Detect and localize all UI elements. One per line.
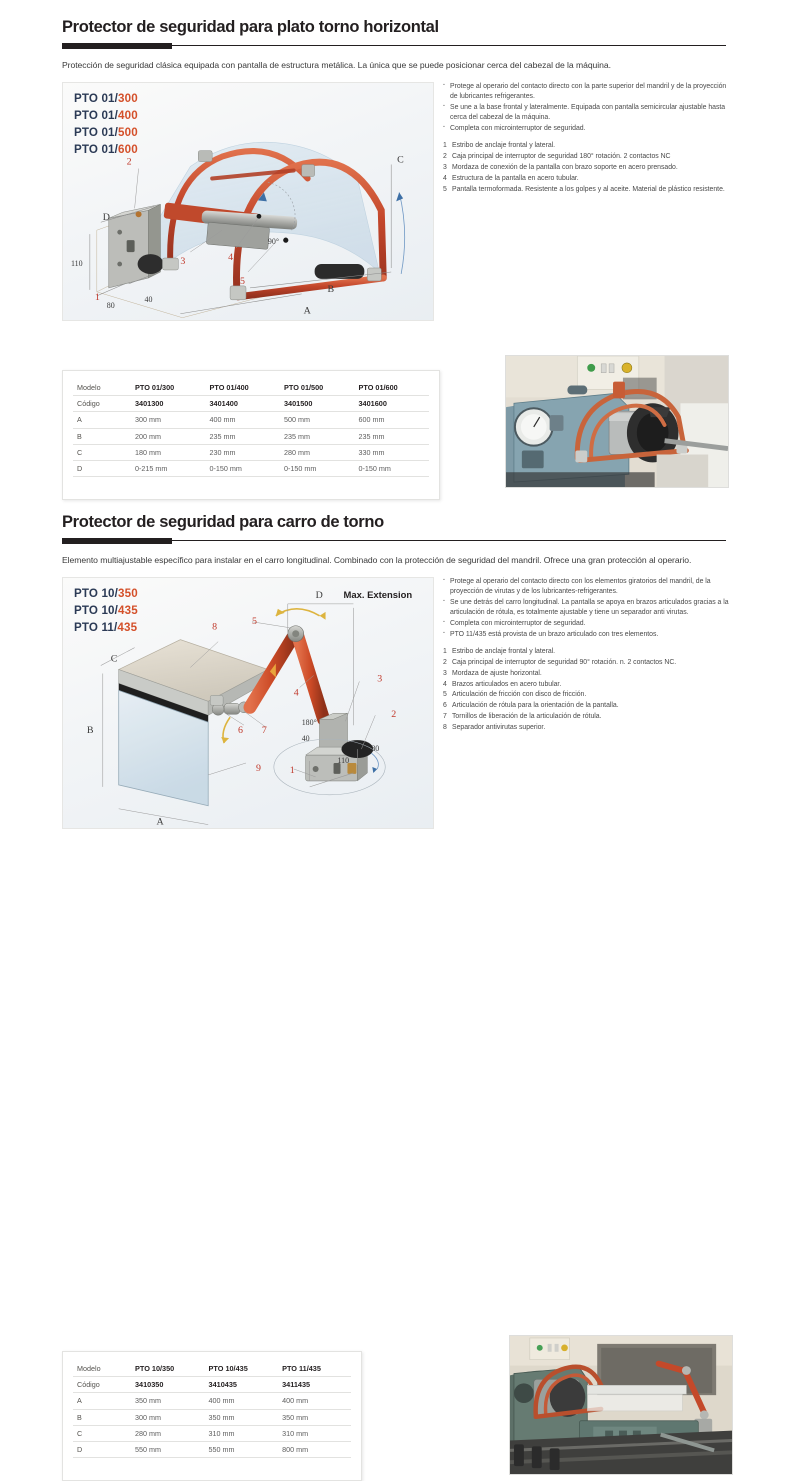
feature-bullet-list: Protege al operario del contacto directo… [443,82,735,134]
value-cell: 300 mm [131,412,206,428]
model-cell: PTO 01/600 [355,380,430,396]
row-label: A [73,412,131,428]
carriage-guard-drawing: B A C D Max. Extension 180° 40 110 80 8 … [63,578,433,829]
table-row: D 0-215 mm 0-150 mm 0-150 mm 0-150 mm [73,460,429,476]
code-cell: 3401300 [131,396,206,412]
model-cell: PTO 01/500 [280,380,355,396]
part-legend-item: Caja principal de interruptor de segurid… [443,152,735,162]
dimension-value-80: 80 [107,301,115,310]
feature-bullet-list: Protege al operario del contacto directo… [443,577,735,640]
code-cell: 3401500 [280,396,355,412]
dimension-label-C: C [111,654,118,665]
row-label: Código [73,396,131,412]
spec-table: Modelo PTO 10/350 PTO 10/435 PTO 11/435 … [73,1361,351,1458]
dimension-value-40: 40 [145,295,153,304]
articulated-arm-upper [298,636,324,720]
page-title: Protector de seguridad para carro de tor… [62,513,726,538]
callout-2: 2 [127,157,132,168]
row-label: B [73,1409,131,1425]
value-cell: 550 mm [205,1441,279,1457]
row-label: Modelo [73,1361,131,1377]
chuck-guard-drawing: A B C D 110 80 40 90° 2 3 4 5 1 [63,83,433,321]
part-legend-item: Estructura de la pantalla en acero tubul… [443,174,735,184]
callout-9: 9 [256,763,261,774]
title-rule-thick [62,43,172,49]
code-cell: 3410435 [205,1377,279,1393]
code-cell: 3410350 [131,1377,205,1393]
feature-bullet: Completa con microinterruptor de segurid… [443,124,735,134]
screen-handle [315,264,365,279]
feature-bullet: Se une detrás del carro longitudinal. La… [443,598,735,619]
value-cell: 0-150 mm [280,460,355,476]
callout-3: 3 [377,674,382,685]
dimension-label-D: D [316,590,323,601]
tubular-crossbar [238,278,383,297]
title-rule [62,538,726,545]
feature-notes-carriage: Protege al operario del contacto directo… [443,577,735,733]
code-cell: 3401400 [206,396,281,412]
row-label: A [73,1393,131,1409]
model-cell: PTO 01/300 [131,380,206,396]
dimension-label-A: A [156,817,164,828]
lathe-photo-illustration [506,356,728,487]
table-row: A 350 mm 400 mm 400 mm [73,1393,351,1409]
value-cell: 235 mm [206,428,281,444]
value-cell: 230 mm [206,444,281,460]
table-row: A 300 mm 400 mm 500 mm 600 mm [73,412,429,428]
dimension-label-B: B [328,284,335,295]
value-cell: 500 mm [280,412,355,428]
section-intro: Protección de seguridad clásica equipada… [62,59,732,72]
section-body: PTO 10/350 PTO 10/435 PTO 11/435 [0,577,788,837]
part-legend-item: Articulación de rótula para la orientaci… [443,701,735,711]
callout-2: 2 [391,709,396,720]
feature-bullet: Protege al operario del contacto directo… [443,577,735,598]
spec-table: Modelo PTO 01/300 PTO 01/400 PTO 01/500 … [73,380,429,477]
value-cell: 310 mm [205,1425,279,1441]
part-legend-item: Estribo de anclaje frontal y lateral. [443,647,735,657]
model-cell: PTO 01/400 [206,380,281,396]
part-legend-item: Mordaza de ajuste horizontal. [443,669,735,679]
section-carriage-guard: Protector de seguridad para carro de tor… [0,513,788,837]
angle-label-90: 90° [268,237,279,246]
callout-6: 6 [238,725,243,736]
value-cell: 235 mm [280,428,355,444]
part-legend-item: Tornillos de liberación de la articulaci… [443,712,735,722]
dimension-value-110: 110 [338,756,350,765]
callout-1: 1 [95,292,100,303]
dimension-label-A: A [304,306,312,317]
feature-bullet: Completa con microinterruptor de segurid… [443,619,735,629]
section-header: Protector de seguridad para plato torno … [62,18,726,50]
part-legend-item: Separador antivirutas superior. [443,723,735,733]
table-row: B 300 mm 350 mm 350 mm [73,1409,351,1425]
table-row: D 550 mm 550 mm 800 mm [73,1441,351,1457]
row-label: D [73,1441,131,1457]
value-cell: 300 mm [131,1409,205,1425]
spec-table-card-chuck: Modelo PTO 01/300 PTO 01/400 PTO 01/500 … [62,370,440,500]
section-body: PTO 01/300 PTO 01/400 PTO 01/500 PTO 01/… [0,82,788,342]
row-label: Código [73,1377,131,1393]
part-legend-item: Caja principal de interruptor de segurid… [443,658,735,668]
table-row: C 180 mm 230 mm 280 mm 330 mm [73,444,429,460]
feature-bullet: Se une a la base frontal y lateralmente.… [443,103,735,124]
value-cell: 400 mm [278,1393,351,1409]
product-photo-chuck [505,355,729,488]
dimension-label-B: B [87,725,94,736]
page-title: Protector de seguridad para plato torno … [62,18,726,43]
row-label: C [73,444,131,460]
value-cell: 280 mm [280,444,355,460]
part-legend-item: Mordaza de conexión de la pantalla con b… [443,163,735,173]
part-legend-list: Estribo de anclaje frontal y lateral. Ca… [443,647,735,733]
dimension-value-80: 80 [371,744,379,753]
callout-8: 8 [212,622,217,633]
callout-7: 7 [262,725,267,736]
value-cell: 600 mm [355,412,430,428]
value-cell: 310 mm [278,1425,351,1441]
value-cell: 180 mm [131,444,206,460]
value-cell: 350 mm [278,1409,351,1425]
callout-1: 1 [290,765,295,776]
value-cell: 200 mm [131,428,206,444]
value-cell: 280 mm [131,1425,205,1441]
part-legend-item: Estribo de anclaje frontal y lateral. [443,141,735,151]
value-cell: 235 mm [355,428,430,444]
value-cell: 400 mm [205,1393,279,1409]
dimension-value-110: 110 [71,259,83,268]
table-row: B 200 mm 235 mm 235 mm 235 mm [73,428,429,444]
feature-bullet: PTO 11/435 está provista de un brazo art… [443,630,735,640]
part-legend-list: Estribo de anclaje frontal y lateral. Ca… [443,141,735,194]
dimension-label-D: D [103,212,110,223]
row-label: Modelo [73,380,131,396]
model-cell: PTO 10/350 [131,1361,205,1377]
product-illustration-carriage: PTO 10/350 PTO 10/435 PTO 11/435 [62,577,434,829]
row-label: C [73,1425,131,1441]
value-cell: 400 mm [206,412,281,428]
table-row-model: Modelo PTO 01/300 PTO 01/400 PTO 01/500 … [73,380,429,396]
value-cell: 0-150 mm [355,460,430,476]
callout-4: 4 [228,252,233,263]
value-cell: 550 mm [131,1441,205,1457]
safety-switch-box [109,204,164,288]
catalog-page: Protector de seguridad para plato torno … [0,0,788,1022]
product-illustration-chuck: PTO 01/300 PTO 01/400 PTO 01/500 PTO 01/… [62,82,434,321]
part-legend-item: Brazos articulados en acero tubular. [443,680,735,690]
product-photo-carriage [509,1335,733,1475]
section-header: Protector de seguridad para carro de tor… [62,513,726,545]
spec-table-card-carriage: Modelo PTO 10/350 PTO 10/435 PTO 11/435 … [62,1351,362,1481]
feature-notes-chuck: Protege al operario del contacto directo… [443,82,735,195]
value-cell: 800 mm [278,1441,351,1457]
section-chuck-guard: Protector de seguridad para plato torno … [0,18,788,342]
table-row-model: Modelo PTO 10/350 PTO 10/435 PTO 11/435 [73,1361,351,1377]
row-label: D [73,460,131,476]
code-cell: 3411435 [278,1377,351,1393]
callout-5: 5 [240,276,245,287]
callout-3: 3 [180,256,185,267]
code-cell: 3401600 [355,396,430,412]
part-legend-item: Articulación de fricción con disco de fr… [443,690,735,700]
row-label: B [73,428,131,444]
table-row: C 280 mm 310 mm 310 mm [73,1425,351,1441]
value-cell: 350 mm [205,1409,279,1425]
dimension-value-40: 40 [302,734,310,743]
angle-label-180: 180° [302,718,317,727]
max-extension-label: Max. Extension [343,590,412,601]
model-cell: PTO 10/435 [205,1361,279,1377]
feature-bullet: Protege al operario del contacto directo… [443,82,735,103]
value-cell: 350 mm [131,1393,205,1409]
section-intro: Elemento multiajustable específico para … [62,554,732,567]
title-rule-thick [62,538,172,544]
dimension-label-C: C [397,155,404,166]
callout-5: 5 [252,616,257,627]
part-legend-item: Pantalla termoformada. Resistente a los … [443,185,735,195]
value-cell: 330 mm [355,444,430,460]
table-row-code: Código 3401300 3401400 3401500 3401600 [73,396,429,412]
model-cell: PTO 11/435 [278,1361,351,1377]
title-rule [62,43,726,50]
value-cell: 0-150 mm [206,460,281,476]
value-cell: 0-215 mm [131,460,206,476]
table-row-code: Código 3410350 3410435 3411435 [73,1377,351,1393]
callout-4: 4 [294,687,299,698]
lathe-carriage-photo-illustration [510,1336,732,1474]
